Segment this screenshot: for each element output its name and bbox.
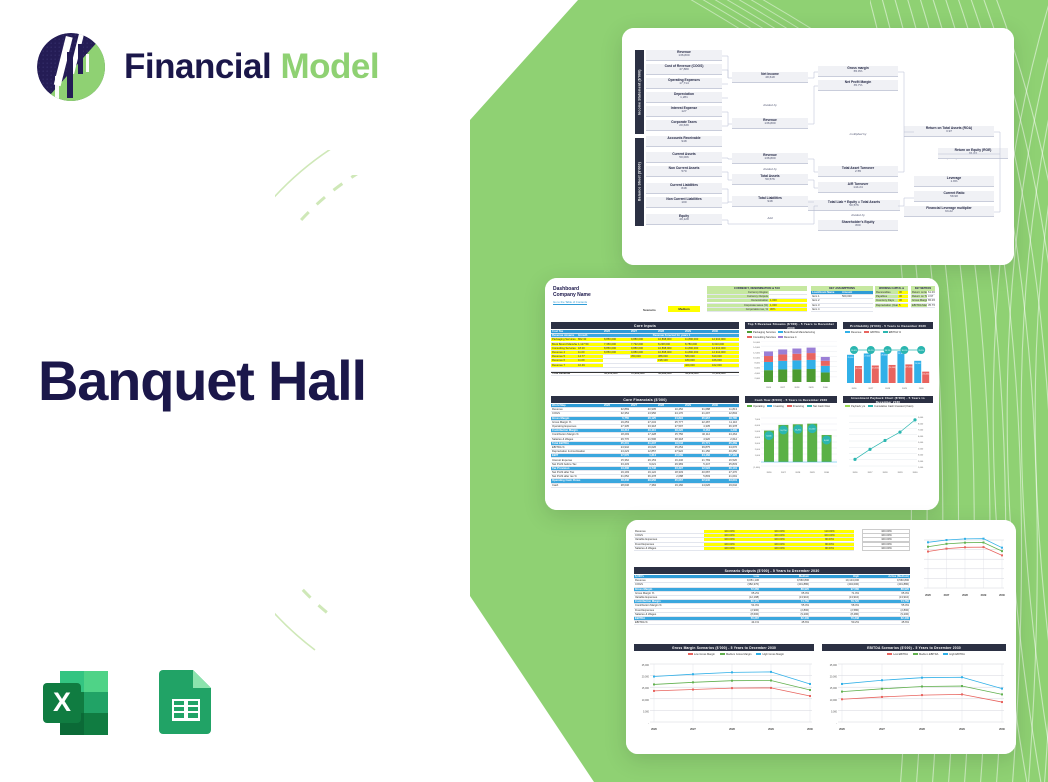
row-value: 27,234	[630, 421, 657, 424]
col-header: 2030	[711, 330, 739, 333]
dp-operator: Add	[732, 216, 808, 220]
legend-item: High EBITDA	[943, 653, 964, 656]
row-value[interactable]: 9,310,000	[711, 343, 739, 346]
scenario-select[interactable]: Medium	[668, 306, 700, 312]
svg-text:2030: 2030	[807, 727, 813, 731]
row-label: Revenue 4	[551, 351, 577, 354]
dp-node: Total Liabilities 948	[732, 196, 808, 207]
dp-value: 49,128	[646, 218, 722, 221]
col-header: 2026	[603, 404, 630, 407]
row-value: (9,200)	[760, 613, 810, 616]
row-value: 5,755	[603, 417, 630, 420]
row-value: 74,750	[860, 600, 910, 603]
dp-value: 65.0%	[818, 70, 898, 73]
row-value: 27,597	[657, 425, 684, 428]
row-value: 31,237	[630, 442, 657, 445]
chart-title: Gross Margin Scenarios ($'000) - 5 Years…	[634, 644, 814, 651]
panel-row-value[interactable]: 1,000	[769, 299, 807, 302]
svg-text:36.0%: 36.0%	[902, 350, 908, 352]
row-label: EBITDA	[634, 617, 710, 620]
row-value[interactable]: 7,350,000	[603, 343, 630, 346]
row-value: 2,088	[657, 475, 684, 478]
dp-value: 50,576	[808, 204, 900, 207]
row-value: 18,333	[657, 471, 684, 474]
row-value: 37,426	[711, 454, 738, 457]
row-value[interactable]: 12,910,000	[711, 351, 739, 354]
row-value: 44.1%	[710, 621, 760, 624]
row-label: Salaries & Wages	[634, 547, 704, 550]
chart-title: Investment Payback Chart ($'000) - 5 Yea…	[843, 396, 933, 403]
svg-text:36.2%: 36.2%	[868, 350, 874, 352]
dp-value: 136,800	[646, 54, 722, 57]
row-value[interactable]: 90.00%	[804, 538, 854, 541]
row-value: 19,122	[630, 471, 657, 474]
row-label: Cash	[551, 484, 603, 487]
row-label: Consulting Services	[551, 347, 577, 350]
svg-text:2026: 2026	[766, 387, 772, 389]
row-value: 22,940	[684, 479, 711, 482]
row-value[interactable]: 100.00%	[704, 538, 754, 541]
gross-margin-scenarios-chart: 25,00020,00015,00010,0005,000-2026202720…	[634, 660, 814, 732]
panel-row-value[interactable]: 30	[898, 299, 908, 302]
svg-text:15,000: 15,000	[642, 687, 650, 690]
row-value: (401,880)	[860, 583, 910, 586]
row-value[interactable]: 8,850,000	[603, 351, 630, 354]
panel-row-label: Depreciation (Years)	[875, 304, 898, 307]
panel-row-label: Item 1	[811, 295, 841, 298]
legend-item: Low Gross Margin	[688, 653, 715, 656]
row-growth[interactable]: 1,127.50	[577, 343, 603, 346]
row-label: Net Profit before Tax	[551, 463, 603, 466]
row-value[interactable]: 580,000	[684, 355, 711, 358]
svg-text:2,000: 2,000	[755, 378, 761, 380]
row-value: 32,869	[603, 408, 630, 411]
row-value: 58.0%	[810, 604, 860, 607]
row-value[interactable]: 8,850,000	[603, 347, 630, 350]
row-value: 17,428	[630, 433, 657, 436]
row-label: Gross Margin	[551, 417, 603, 420]
dp-value: 144.24	[818, 186, 898, 189]
total-value: 47,860,000	[630, 372, 657, 375]
chart-title: EBITDA Scenarios ($'000) - 5 Years to De…	[822, 644, 1006, 651]
total-value: 50,490,000	[657, 372, 684, 375]
row-label: Gross Margin	[634, 588, 710, 591]
dp-operator: divided by	[818, 213, 898, 217]
row-value: 33,318	[630, 425, 657, 428]
row-value: 24,942	[603, 446, 630, 449]
svg-text:2027: 2027	[868, 388, 874, 390]
row-growth[interactable]: 14.77	[577, 355, 603, 358]
profitability-chart: 25,800(15,500)202627,000(16,000)202728,0…	[845, 338, 933, 390]
svg-text:28,000: 28,000	[881, 354, 887, 356]
row-value: 7,384	[630, 484, 657, 487]
col-header: 2026	[603, 330, 630, 333]
row-value[interactable]: 10,898,000	[657, 351, 684, 354]
svg-text:2030: 2030	[999, 727, 1005, 731]
row-value: (13,910)	[760, 596, 810, 599]
svg-text:2028: 2028	[794, 387, 800, 389]
row-value: 25,369	[711, 442, 738, 445]
row-value[interactable]: 388,000	[657, 355, 684, 358]
legend-item: Revenue	[845, 331, 861, 334]
svg-text:2030: 2030	[999, 593, 1005, 597]
row-value: 29,770	[603, 438, 630, 441]
row-value[interactable]: 90.00%	[804, 547, 854, 550]
row-value[interactable]: 100.00%	[754, 534, 804, 537]
dp-node: Total Assets 50,576	[732, 174, 808, 185]
row-value[interactable]: 11,890,000	[684, 338, 711, 341]
dp-value: 1,281	[646, 96, 722, 99]
row-value[interactable]: 110.00%	[804, 530, 854, 533]
row-value: 65.0%	[760, 592, 810, 595]
row-value: 72,260	[710, 588, 760, 591]
row-value: 74,750	[760, 600, 810, 603]
row-value[interactable]: 8,780,000	[684, 343, 711, 346]
row-value: 55.0%	[760, 604, 810, 607]
dp-value: 50,576	[732, 178, 808, 181]
dp-node: Return on Total Assets (ROA) 3.97	[904, 126, 994, 137]
svg-text:(17,000): (17,000)	[905, 366, 912, 368]
ebitda-scenarios-chart: 25,00020,00015,00010,0005,000-2026202720…	[822, 660, 1006, 732]
row-value: 15,771	[684, 442, 711, 445]
svg-text:20,000: 20,000	[830, 676, 838, 679]
row-label: Contribution Margin %	[634, 604, 710, 607]
row-value[interactable]: 198,100	[657, 359, 684, 362]
row-value[interactable]: 8,238,000	[657, 343, 684, 346]
row-value: 9,051,130	[710, 579, 760, 582]
svg-text:2027: 2027	[868, 472, 874, 474]
row-label: Salaries & Wages	[634, 613, 710, 616]
table-row: Salaries & Wages100.00%100.00%90.00%	[634, 547, 854, 551]
investment-payback-chart: 9,0008,0007,0006,0005,0004,0003,0002,000…	[845, 412, 933, 474]
svg-text:25,000: 25,000	[830, 664, 838, 667]
row-value: (382,370)	[710, 583, 760, 586]
legend-item: Medium EBITDA	[913, 653, 938, 656]
row-value[interactable]: 100.00%	[754, 530, 804, 533]
brand-logo: Financial Model	[34, 30, 379, 104]
dp-operator: divided by	[732, 167, 808, 171]
dp-node: Equity 49,128	[646, 214, 722, 225]
row-value: 21,091	[711, 475, 738, 478]
panel-row-label: Corporation tax, %	[707, 308, 769, 311]
row-value: 22,487	[684, 421, 711, 424]
row-value[interactable]: 8,850,000	[603, 338, 630, 341]
row-growth[interactable]: 862.30	[577, 338, 603, 341]
dp-value: 3.97	[904, 130, 994, 133]
row-value[interactable]: 10,898,000	[657, 338, 684, 341]
row-value[interactable]: 9,880,000	[630, 338, 657, 341]
row-value[interactable]: 9,880,000	[630, 351, 657, 354]
col-header: Cost Tax	[551, 330, 603, 333]
svg-text:27,000: 27,000	[864, 355, 870, 357]
table-of-contents-link[interactable]: Go to the Table of Contents	[553, 300, 587, 304]
svg-text:7,000: 7,000	[918, 430, 924, 432]
row-value: 55.0%	[860, 604, 910, 607]
row-label: Operating Expenses	[551, 425, 603, 428]
row-value: 31,688	[684, 408, 711, 411]
dp-value: 136,800	[732, 122, 808, 125]
svg-text:36.4%: 36.4%	[851, 350, 857, 352]
svg-text:2029: 2029	[959, 727, 965, 731]
svg-text:20,300: 20,300	[915, 363, 921, 365]
row-value[interactable]: 7,792,000	[630, 343, 657, 346]
row-value: 45.6%	[860, 621, 910, 624]
row-value[interactable]: 9,880,000	[630, 347, 657, 350]
row-value[interactable]: 100.00%	[804, 534, 854, 537]
legend-item: High Gross Margin	[756, 653, 784, 656]
row-value: 62,400	[860, 617, 910, 620]
dp-node: Net Profit Margin 35.7%	[818, 80, 898, 91]
dp-node: Depreciation 1,281	[646, 92, 722, 103]
row-value[interactable]: 12,910,000	[711, 338, 739, 341]
col-header: Active (Medium)	[860, 575, 910, 578]
row-value[interactable]: 100.00%	[704, 530, 754, 533]
table-row: 100.00%	[862, 547, 910, 551]
row-value[interactable]: 400,000	[684, 364, 711, 367]
row-growth[interactable]: 11.09	[577, 359, 603, 362]
dp-node: Accounts Receivable 948	[646, 136, 722, 147]
scenario-label: Scenario	[643, 308, 656, 312]
panel-row-value[interactable]: 30	[898, 295, 908, 298]
dp-value: 100	[646, 201, 722, 204]
row-value[interactable]: 166,000	[711, 359, 739, 362]
panel-row-label: Return on Equity (ROE)	[911, 291, 927, 294]
row-value[interactable]: 10,898,000	[657, 347, 684, 350]
panel-row-value[interactable]: 1,000	[769, 304, 807, 307]
row-value: 21,069	[657, 454, 684, 457]
row-value[interactable]: 100.00%	[704, 543, 754, 546]
row-value[interactable]: 100.00%	[704, 547, 754, 550]
svg-text:2029: 2029	[898, 472, 904, 474]
row-value[interactable]: 90.00%	[804, 543, 854, 546]
row-value: 71.0%	[810, 592, 860, 595]
svg-text:2029: 2029	[768, 727, 774, 731]
row-value: 70,338	[810, 617, 860, 620]
dashboard-card[interactable]: Dashboard Company Name Go to the Table o…	[545, 278, 939, 510]
row-value[interactable]: 610,000	[711, 355, 739, 358]
row-value: 18,293	[603, 433, 630, 436]
row-value: 60,170	[710, 600, 760, 603]
svg-text:2027: 2027	[879, 727, 885, 731]
svg-text:(10,400): (10,400)	[922, 374, 929, 376]
row-value[interactable]: 350,000	[630, 355, 657, 358]
legend-item: EBITDA	[864, 331, 879, 334]
panel-col-header: Loan/Grant Name	[811, 291, 841, 294]
row-label: Depreciation & Amortisation	[551, 450, 603, 453]
row-value: 29,153	[630, 459, 657, 462]
svg-text:5,000: 5,000	[755, 431, 761, 433]
svg-text:2026: 2026	[767, 472, 773, 474]
row-value: 28,046	[603, 484, 630, 487]
row-value: 16,026	[630, 446, 657, 449]
svg-text:2026: 2026	[839, 727, 845, 731]
row-value[interactable]: 12,910,000	[711, 347, 739, 350]
dp-node: Non Current Liabilities 100	[646, 197, 722, 208]
panel-row-value: 3.97	[927, 295, 935, 298]
svg-text:2028: 2028	[883, 472, 889, 474]
band-income-statement: Income Statement ($'000)	[635, 50, 644, 134]
row-value: 19,543	[657, 442, 684, 445]
row-value[interactable]: 11,890,000	[684, 347, 711, 350]
row-label: Packaging Services	[551, 338, 577, 341]
row-value: 21,506	[630, 438, 657, 441]
row-value: (2,580)	[810, 609, 860, 612]
row-value[interactable]: 180,000	[684, 359, 711, 362]
dp-value: 35.7%	[818, 84, 898, 87]
row-value: 13,306	[603, 467, 630, 470]
panel-row-value[interactable]: 5	[898, 304, 908, 307]
row-value[interactable]: 162,000	[711, 364, 739, 367]
row-value: (401,880)	[760, 583, 810, 586]
svg-text:2027: 2027	[780, 387, 786, 389]
page-title: Banquet Hall	[38, 348, 366, 413]
svg-text:-: -	[836, 722, 837, 725]
dp-node: Revenue 136,800	[646, 50, 722, 61]
scenario-analysis-card[interactable]: Revenue100.00%100.00%110.00%COGS100.00%1…	[626, 520, 1016, 754]
row-value: (8,480)	[810, 613, 860, 616]
panel-row-value[interactable]: 500,000	[841, 295, 873, 298]
microsoft-excel-icon[interactable]: X	[34, 662, 116, 744]
dp-node-roe: Return on Equity (ROE) 61.03	[938, 148, 1008, 159]
row-value: 40,250	[711, 450, 738, 453]
row-value: 23,397	[657, 467, 684, 470]
row-label: EBITDA %	[634, 621, 710, 624]
svg-text:8,000: 8,000	[918, 423, 924, 425]
col-header: 2030	[711, 404, 738, 407]
row-growth[interactable]: 11.00	[577, 351, 603, 354]
svg-text:3,000: 3,000	[755, 443, 761, 445]
row-label: Revenue	[634, 530, 704, 533]
row-value: 19,313	[603, 429, 630, 432]
row-value: 17,570	[603, 454, 630, 457]
row-label: Book Bound Manufacturing	[551, 343, 577, 346]
financial-statement-dupont-card[interactable]: Income Statement ($'000) Balance Sheet (…	[622, 28, 1014, 265]
row-value: 27,922	[657, 450, 684, 453]
dp-node: Current Assets 50,006	[646, 152, 722, 163]
panel-row-label: Receivables	[875, 291, 898, 294]
panel-row-label: Inventory Days	[875, 299, 898, 302]
dp-value: 948	[732, 200, 808, 203]
row-value: 11,813	[711, 408, 738, 411]
svg-text:10,000: 10,000	[830, 699, 838, 702]
col-header: 2028	[657, 404, 684, 407]
row-value: 36,478	[630, 475, 657, 478]
row-value: 2,612	[711, 438, 738, 441]
row-value: 32,354	[603, 412, 630, 415]
row-value: 19,253	[603, 421, 630, 424]
row-label: Variable Expenses	[634, 596, 710, 599]
svg-text:4,000: 4,000	[755, 437, 761, 439]
panel-row-label: Return on Total Assets (ROA)	[911, 295, 927, 298]
total-value: 53,210,000	[684, 372, 711, 375]
svg-text:14,000: 14,000	[753, 347, 760, 349]
dp-value: 136,800	[732, 157, 808, 160]
row-value: 36,378	[711, 425, 738, 428]
panel-row-label: Item 2	[811, 299, 841, 302]
svg-text:2028: 2028	[885, 388, 891, 390]
row-value: 24,170	[657, 412, 684, 415]
svg-text:6,000: 6,000	[918, 436, 924, 438]
row-growth[interactable]: 10.49	[577, 364, 603, 367]
dp-node: Corporate Taxes 20,639	[646, 120, 722, 131]
row-value: 33,601	[711, 479, 738, 482]
panel-col-header: Amount	[841, 291, 873, 294]
svg-text:2,000: 2,000	[918, 461, 924, 463]
row-value: 9,560,800	[860, 579, 910, 582]
row-value: 24,464	[711, 433, 738, 436]
svg-text:2027: 2027	[781, 472, 787, 474]
row-value: 65.0%	[860, 592, 910, 595]
row-value[interactable]: 11,890,000	[684, 351, 711, 354]
dp-value: 2.55	[818, 170, 898, 173]
row-label: Revenue	[551, 408, 603, 411]
row-value[interactable]: 100.00%	[754, 547, 804, 550]
col-header: 2027	[630, 404, 657, 407]
row-value: 29,956	[630, 479, 657, 482]
row-value: 40,112	[684, 433, 711, 436]
row-value: 10,452	[657, 408, 684, 411]
row-value: 50.2%	[810, 621, 860, 624]
legend-item: Medium Gross Margin	[720, 653, 752, 656]
dp-node: Shareholder's Equity 800	[818, 220, 898, 231]
row-label: COGS	[634, 534, 704, 537]
dp-value: 127	[646, 110, 722, 113]
svg-text:-: -	[759, 461, 760, 463]
subcol-header: Growth	[577, 334, 603, 337]
panel-row-value[interactable]: 30%	[769, 308, 807, 311]
scenario-outputs-table: $,000'sLowMediumHighActive (Medium)Reven…	[634, 575, 910, 625]
panel-row-value: 65.0%	[927, 299, 935, 302]
dp-value: 48,618	[732, 76, 808, 79]
svg-text:2028: 2028	[795, 472, 801, 474]
row-label: Contribution Margin	[634, 600, 710, 603]
svg-text:8,000: 8,000	[766, 436, 772, 438]
svg-text:5,000: 5,000	[831, 710, 838, 713]
row-value[interactable]: 100.00%	[754, 543, 804, 546]
row-label: Revenue 7	[551, 364, 577, 367]
core-financials-title: Core Financials ($'000)	[551, 396, 739, 403]
row-value: 8,464	[684, 429, 711, 432]
row-value: (12,198)	[710, 596, 760, 599]
row-growth[interactable]: 18.00	[577, 347, 603, 350]
col-header: Medium	[760, 575, 810, 578]
row-label: Fixed Expenses	[634, 543, 704, 546]
svg-text:2026: 2026	[853, 472, 859, 474]
row-value: 29,383	[657, 463, 684, 466]
subcol-header: Revenue Forecast for years 1	[603, 334, 739, 337]
svg-text:(16,500): (16,500)	[889, 367, 896, 369]
row-value: 39,875	[684, 446, 711, 449]
svg-text:35.5%: 35.5%	[918, 350, 924, 352]
google-sheets-icon[interactable]	[144, 662, 226, 744]
dp-value: 948	[646, 140, 722, 143]
dp-value: 58.98	[914, 195, 994, 198]
row-value[interactable]: 100.00%	[754, 538, 804, 541]
chart-title: Top 5 Revenue Streams ($'000) - 5 Years …	[745, 322, 837, 329]
dp-value: 50,006	[646, 156, 722, 159]
row-value: 65.2%	[710, 592, 760, 595]
svg-text:10,100: 10,100	[809, 429, 816, 431]
row-value: 62,400	[760, 617, 810, 620]
row-label: COGS	[551, 412, 603, 415]
row-value: (404,000)	[810, 583, 860, 586]
row-value: 25,777	[657, 421, 684, 424]
panel-row-value[interactable]: 30	[898, 291, 908, 294]
row-value: 79,720	[810, 600, 860, 603]
row-value[interactable]: 100.00%	[704, 534, 754, 537]
panel-row-value: 61.03	[927, 291, 935, 294]
legend-item: Low EBITDA	[887, 653, 908, 656]
